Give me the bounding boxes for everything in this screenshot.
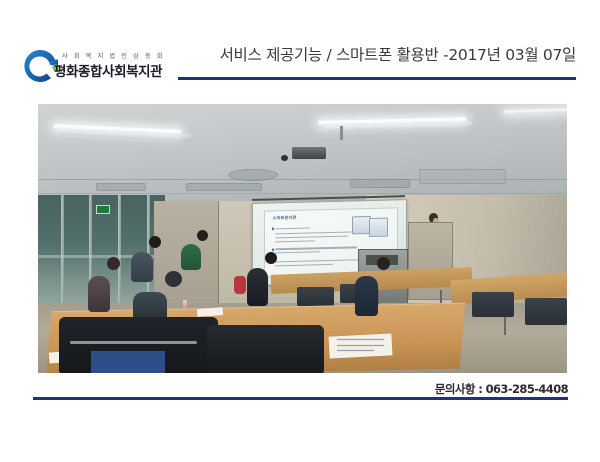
ceiling-vent: [96, 183, 146, 190]
paper-text-line: [337, 350, 374, 351]
projector: [292, 147, 326, 159]
slide-thumbnail: [369, 218, 388, 237]
attendee-body: [247, 268, 268, 306]
footer-divider: [33, 397, 568, 400]
attendee-red-jacket: [234, 276, 246, 294]
logo-title: 평화종합사회복지관: [54, 64, 162, 81]
photo-scene: 스마트폰이란: [38, 104, 567, 373]
chair: [525, 298, 567, 325]
projected-slide-title: 스마트폰이란: [273, 215, 297, 222]
slide-text-line: [276, 240, 316, 242]
logo-text-group: 사 회 복 지 법 인 삼 동 회 평화종합사회복지관: [62, 52, 190, 61]
attendee-body: [88, 276, 110, 312]
attendee-head: [377, 257, 390, 270]
chair: [472, 292, 514, 316]
slide-text-line: [276, 247, 358, 250]
slide-text-line: [276, 259, 363, 262]
emergency-exit-sign: [96, 205, 110, 214]
page-title-area: 서비스 제공기능 / 스마트폰 활용반 -2017년 03월 07일: [178, 44, 578, 66]
attendee-head-capped: [165, 271, 182, 287]
event-photo: 스마트폰이란: [38, 104, 567, 373]
paper-text-line: [337, 345, 385, 346]
attendee-body: [181, 244, 201, 270]
slide-text-line: [276, 264, 334, 267]
slide-header: 사 회 복 지 법 인 삼 동 회 평화종합사회복지관 서비스 제공기능 / 스…: [0, 0, 600, 90]
slide-text-line: [276, 251, 321, 253]
projector-mount: [340, 126, 343, 140]
paper-text-line: [337, 339, 385, 340]
slide-text-line: [276, 235, 349, 238]
contact-info: 문의사항 : 063-285-4408: [435, 381, 568, 397]
ceiling-seam: [38, 193, 567, 194]
chair-rail: [70, 341, 197, 344]
slide-bullet: [272, 248, 275, 251]
attendee-body: [355, 276, 378, 316]
slide-bullet: [272, 228, 275, 231]
attendee-body: [131, 252, 153, 282]
logo-subtitle: 사 회 복 지 법 인 삼 동 회: [62, 52, 190, 61]
handout-paper: [328, 334, 393, 359]
ceiling-vent: [186, 183, 262, 190]
ceiling-vent: [228, 169, 278, 182]
ceiling-vent: [350, 179, 410, 188]
page-title: 서비스 제공기능 / 스마트폰 활용반 -2017년 03월 07일: [178, 44, 578, 66]
slide-page: 사 회 복 지 법 인 삼 동 회 평화종합사회복지관 서비스 제공기능 / 스…: [0, 0, 600, 462]
chair: [297, 287, 334, 306]
coat-on-chair: [207, 325, 323, 373]
slide-text-line: [276, 231, 353, 234]
organization-logo: 사 회 복 지 법 인 삼 동 회 평화종합사회복지관: [16, 45, 191, 103]
header-divider: [178, 77, 576, 80]
slide-text-line: [276, 227, 310, 229]
attendee-head: [149, 236, 161, 248]
chair-seat: [91, 351, 165, 373]
ceiling-air-diffuser: [419, 169, 506, 184]
